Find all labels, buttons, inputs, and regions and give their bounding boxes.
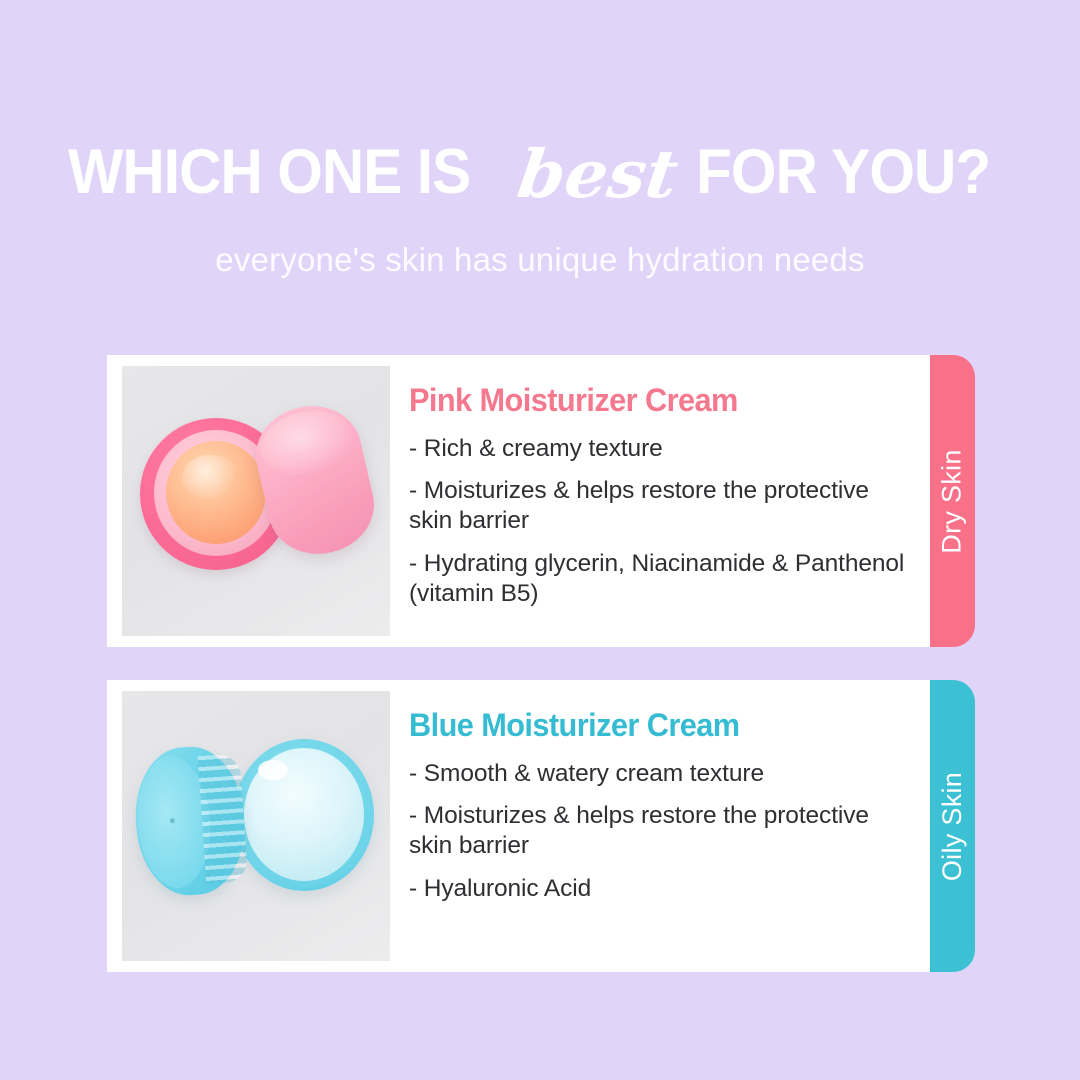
page-title: WHICH ONE IS best FOR YOU? xyxy=(68,137,1013,219)
skin-type-tab-dry[interactable]: Dry Skin xyxy=(930,355,975,647)
skin-type-tab-label: Oily Skin xyxy=(937,771,968,880)
product-info-pink: Pink Moisturizer Cream - Rich & creamy t… xyxy=(390,366,930,609)
product-bullet: - Hyaluronic Acid xyxy=(409,874,912,904)
product-card-blue[interactable]: Blue Moisturizer Cream - Smooth & watery… xyxy=(107,680,975,972)
page-subtitle: everyone's skin has unique hydration nee… xyxy=(215,241,864,279)
product-title-blue: Blue Moisturizer Cream xyxy=(409,709,892,743)
header: WHICH ONE IS best FOR YOU? everyone's sk… xyxy=(0,0,1080,330)
product-bullet: - Smooth & watery cream texture xyxy=(409,759,912,789)
blue-jar-base-icon xyxy=(234,739,374,891)
blue-lid-ribs xyxy=(198,753,249,884)
headline-part-1: WHICH ONE IS xyxy=(68,141,470,204)
blue-jar-lid xyxy=(131,743,249,898)
product-bullet: - Rich & creamy texture xyxy=(409,434,912,464)
skin-type-tab-oily[interactable]: Oily Skin xyxy=(930,680,975,972)
pink-cream-surface xyxy=(166,441,266,544)
product-photo-blue xyxy=(122,691,390,961)
headline-script-word: best xyxy=(508,141,688,207)
product-bullet: - Moisturizes & helps restore the protec… xyxy=(409,476,912,536)
product-photo-pink xyxy=(122,366,390,636)
product-bullet: - Hydrating glycerin, Niacinamide & Pant… xyxy=(409,549,912,609)
product-title-pink: Pink Moisturizer Cream xyxy=(409,384,892,418)
product-bullet: - Moisturizes & helps restore the protec… xyxy=(409,801,912,861)
product-card-pink[interactable]: Pink Moisturizer Cream - Rich & creamy t… xyxy=(107,355,975,647)
card-body-pink: Pink Moisturizer Cream - Rich & creamy t… xyxy=(107,355,930,647)
blue-cream-surface xyxy=(244,748,364,881)
product-info-blue: Blue Moisturizer Cream - Smooth & watery… xyxy=(390,691,930,904)
headline-part-2: FOR YOU? xyxy=(696,141,990,204)
skin-type-tab-label: Dry Skin xyxy=(937,449,968,553)
card-body-blue: Blue Moisturizer Cream - Smooth & watery… xyxy=(107,680,930,972)
